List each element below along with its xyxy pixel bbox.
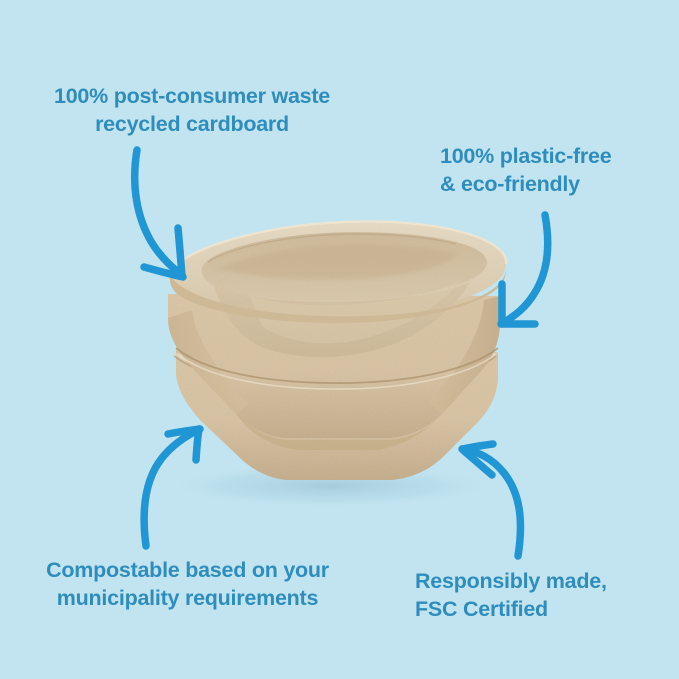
callout-compostable: Compostable based on your municipality r… bbox=[30, 557, 345, 613]
callout-fsc: Responsibly made, FSC Certified bbox=[415, 568, 650, 624]
arrow-bottom-left-icon bbox=[144, 429, 200, 546]
arrow-top-right-icon bbox=[501, 215, 548, 324]
callout-recycled-cardboard: 100% post-consumer waste recycled cardbo… bbox=[27, 83, 357, 139]
arrow-top-left-icon bbox=[135, 150, 183, 277]
infographic-canvas: 100% post-consumer waste recycled cardbo… bbox=[0, 0, 679, 679]
callout-plastic-free: 100% plastic-free & eco-friendly bbox=[440, 143, 670, 199]
arrow-bottom-right-icon bbox=[462, 444, 520, 556]
